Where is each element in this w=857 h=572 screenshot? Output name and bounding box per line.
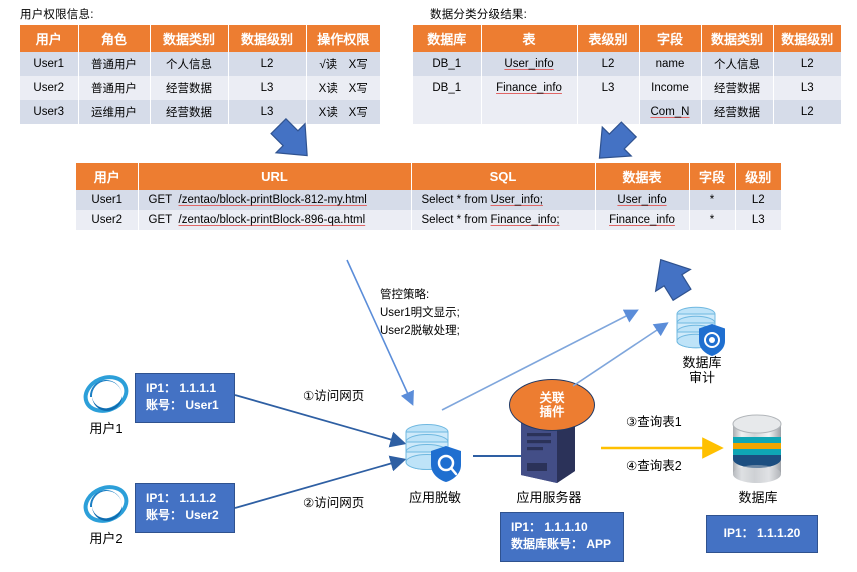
cell-field: name: [639, 52, 701, 76]
cell-category: 经营数据: [701, 76, 773, 100]
url-method: GET: [149, 214, 173, 226]
cell-field: Com_N: [639, 100, 701, 124]
cell-category: 经营数据: [701, 100, 773, 124]
audit-table: 用户 URL SQL 数据表 字段 级别 User1 GET /zentao/b…: [76, 163, 781, 230]
cell-sql: Select * from User_info;: [411, 190, 595, 210]
database-label: 数据库: [718, 487, 798, 506]
cell-level: L3: [228, 76, 306, 100]
col-sql: SQL: [411, 163, 595, 190]
col-operation-permission: 操作权限: [306, 25, 380, 52]
col-table-level: 表级别: [577, 25, 639, 52]
permission-table-caption: 用户权限信息:: [20, 6, 94, 22]
sql-prefix: Select * from: [422, 214, 488, 226]
internet-explorer-icon: [82, 480, 130, 528]
step-4-label: ④查询表2: [626, 455, 682, 474]
step-2-label: ②访问网页: [303, 492, 364, 511]
cell-level: L3: [735, 210, 781, 230]
table-row: Com_N 经营数据 L2: [413, 100, 841, 124]
cell-url: GET /zentao/block-printBlock-812-my.html: [138, 190, 411, 210]
table-header-row: 用户 URL SQL 数据表 字段 级别: [76, 163, 781, 190]
arrow-query-to-database: [601, 440, 729, 456]
database-audit-label: 数据库 审计: [660, 356, 744, 386]
cell-level: L3: [773, 76, 841, 100]
col-user: 用户: [76, 163, 138, 190]
cell-level: L2: [773, 52, 841, 76]
cell-role: 普通用户: [78, 76, 150, 100]
database-audit-label-line-2: 审计: [660, 371, 744, 386]
cell-database: [413, 100, 481, 124]
cell-user: User1: [76, 190, 138, 210]
cell-table-level: L2: [577, 52, 639, 76]
classification-table: 数据库 表 表级别 字段 数据类别 数据级别 DB_1 User_info L2…: [413, 25, 841, 124]
client-1-info-box: IP1： 1.1.1.1 账号： User1: [135, 373, 235, 423]
permission-table: 用户 角色 数据类别 数据级别 操作权限 User1 普通用户 个人信息 L2 …: [20, 25, 380, 124]
table-row: DB_1 User_info L2 name 个人信息 L2: [413, 52, 841, 76]
cell-user: User3: [20, 100, 78, 124]
url-path: /zentao/block-printBlock-812-my.html: [179, 194, 367, 206]
col-user: 用户: [20, 25, 78, 52]
cell-field: *: [689, 190, 735, 210]
table-header-row: 用户 角色 数据类别 数据级别 操作权限: [20, 25, 380, 52]
col-database: 数据库: [413, 25, 481, 52]
table-row: User2 GET /zentao/block-printBlock-896-q…: [76, 210, 781, 230]
cell-role: 运维用户: [78, 100, 150, 124]
client-2-account: 账号： User2: [146, 507, 224, 524]
table-row: User1 普通用户 个人信息 L2 √读X写: [20, 52, 380, 76]
step-3-label: ③查询表1: [626, 411, 682, 430]
application-masking-label: 应用脱敏: [390, 487, 480, 506]
cell-data-table: User_info: [595, 190, 689, 210]
client-2-label: 用户2: [78, 528, 134, 547]
read-permission: √读: [313, 56, 343, 72]
cell-level: L2: [735, 190, 781, 210]
col-level: 级别: [735, 163, 781, 190]
app-server-info-box: IP1： 1.1.1.10 数据库账号： APP: [500, 512, 624, 562]
policy-title: 管控策略:: [380, 287, 460, 305]
read-permission: X读: [313, 104, 343, 120]
cell-category: 经营数据: [150, 100, 228, 124]
cell-table: Finance_info: [481, 76, 577, 100]
col-field: 字段: [689, 163, 735, 190]
table-row: DB_1 Finance_info L3 Income 经营数据 L3: [413, 76, 841, 100]
client-1-label: 用户1: [78, 418, 134, 437]
col-data-table: 数据表: [595, 163, 689, 190]
url-path: /zentao/block-printBlock-896-qa.html: [179, 214, 366, 226]
sql-prefix: Select * from: [422, 194, 488, 206]
read-permission: X读: [313, 80, 343, 96]
col-role: 角色: [78, 25, 150, 52]
application-server-label: 应用服务器: [503, 487, 595, 506]
classification-table-caption: 数据分类分级结果:: [430, 6, 527, 22]
col-data-category: 数据类别: [150, 25, 228, 52]
cell-category: 个人信息: [701, 52, 773, 76]
cell-level: L2: [228, 52, 306, 76]
cell-table-level: L3: [577, 76, 639, 100]
cell-url: GET /zentao/block-printBlock-896-qa.html: [138, 210, 411, 230]
client-1-account: 账号： User1: [146, 397, 224, 414]
cell-level: L2: [773, 100, 841, 124]
cell-permission: √读X写: [306, 52, 380, 76]
database-info-box: IP1： 1.1.1.20: [706, 515, 818, 553]
cell-table-level: [577, 100, 639, 124]
cell-database: DB_1: [413, 52, 481, 76]
table-row: User1 GET /zentao/block-printBlock-812-m…: [76, 190, 781, 210]
write-permission: X写: [343, 104, 373, 120]
col-field: 字段: [639, 25, 701, 52]
arrow-masking-to-db-audit: [440, 305, 670, 415]
cell-database: DB_1: [413, 76, 481, 100]
cell-user: User1: [20, 52, 78, 76]
database-ip: IP1： 1.1.1.20: [724, 525, 801, 542]
cell-user: User2: [20, 76, 78, 100]
client-1-ip: IP1： 1.1.1.1: [146, 380, 224, 397]
write-permission: X写: [343, 80, 373, 96]
database-audit-icon: [672, 305, 732, 357]
cell-category: 个人信息: [150, 52, 228, 76]
col-data-level: 数据级别: [773, 25, 841, 52]
cell-sql: Select * from Finance_info;: [411, 210, 595, 230]
cell-role: 普通用户: [78, 52, 150, 76]
col-data-category: 数据类别: [701, 25, 773, 52]
write-permission: X写: [343, 56, 373, 72]
database-audit-label-line-1: 数据库: [660, 356, 744, 371]
cell-user: User2: [76, 210, 138, 230]
cell-table: [481, 100, 577, 124]
url-method: GET: [149, 194, 173, 206]
sql-table: Finance_info;: [491, 214, 560, 226]
table-row: User2 普通用户 经营数据 L3 X读X写: [20, 76, 380, 100]
internet-explorer-icon: [82, 370, 130, 418]
application-masking-icon: [400, 422, 466, 484]
step-1-label: ①访问网页: [303, 385, 364, 404]
col-table: 表: [481, 25, 577, 52]
cell-field: *: [689, 210, 735, 230]
col-data-level: 数据级别: [228, 25, 306, 52]
cell-category: 经营数据: [150, 76, 228, 100]
cell-permission: X读X写: [306, 76, 380, 100]
cell-table: User_info: [481, 52, 577, 76]
table-header-row: 数据库 表 表级别 字段 数据类别 数据级别: [413, 25, 841, 52]
client-2-ip: IP1： 1.1.1.2: [146, 490, 224, 507]
app-server-db-account: 数据库账号： APP: [511, 536, 613, 553]
client-2-info-box: IP1： 1.1.1.2 账号： User2: [135, 483, 235, 533]
cell-data-table: Finance_info: [595, 210, 689, 230]
cell-field: Income: [639, 76, 701, 100]
col-url: URL: [138, 163, 411, 190]
sql-table: User_info;: [491, 194, 543, 206]
database-icon: [729, 413, 785, 485]
app-server-ip: IP1： 1.1.1.10: [511, 519, 613, 536]
